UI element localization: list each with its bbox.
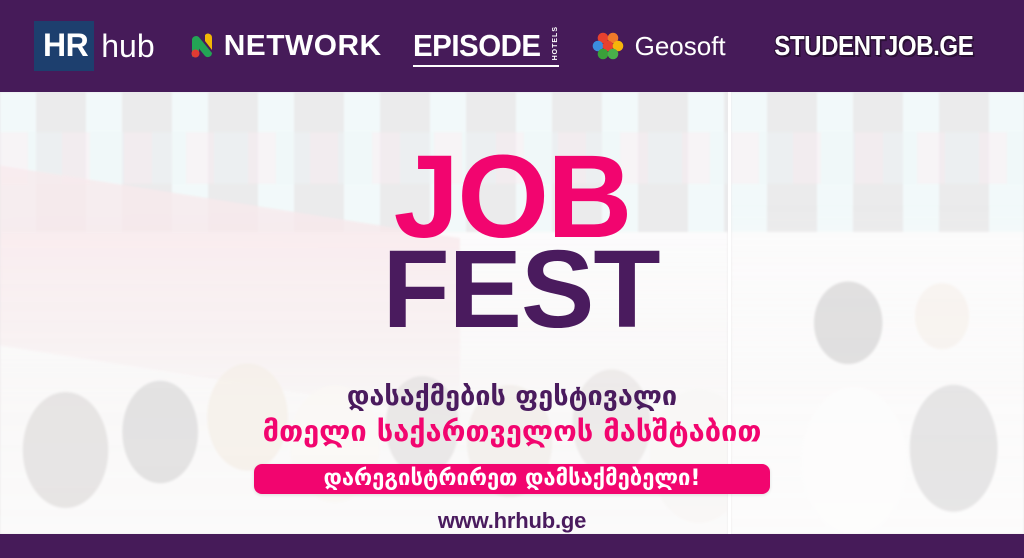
hero-content: JOB FEST დასაქმების ფესტივალი მთელი საქა… [0, 92, 1024, 534]
studentjob-wordmark: STUDENTJOB.GE [775, 32, 974, 60]
bottom-accent-bar [0, 534, 1024, 558]
logo-geosoft[interactable]: Geosoft [592, 30, 726, 62]
job-fest-banner: HR hub NETWORK EPISODE HOTELS [0, 0, 1024, 558]
hr-hub-wordmark: hub [101, 30, 154, 62]
network-wordmark: NETWORK [224, 32, 382, 61]
logo-hr-hub[interactable]: HR hub [34, 21, 155, 71]
episode-underline [413, 65, 559, 67]
geosoft-dots-icon [592, 30, 624, 62]
website-url[interactable]: www.hrhub.ge [438, 508, 586, 534]
hero-subtitle-line-2: მთელი საქართველოს მასშტაბით [263, 416, 762, 448]
hero-subtitle-line-1: დასაქმების ფესტივალი [347, 382, 677, 412]
geosoft-wordmark: Geosoft [635, 33, 726, 59]
episode-wordmark: EPISODE [413, 30, 541, 61]
hero-section: JOB FEST დასაქმების ფესტივალი მთელი საქა… [0, 92, 1024, 534]
network-n-icon [187, 31, 217, 61]
episode-row: EPISODE HOTELS [413, 25, 559, 60]
logo-episode-hotels[interactable]: EPISODE HOTELS [413, 25, 559, 66]
sponsor-logo-bar: HR hub NETWORK EPISODE HOTELS [0, 0, 1024, 92]
episode-hotels-label: HOTELS [552, 25, 559, 60]
hr-hub-mark: HR [34, 21, 94, 71]
hero-title-fest: FEST [364, 239, 659, 340]
logo-network[interactable]: NETWORK [187, 31, 379, 61]
hr-hub-mark-text: HR [43, 29, 88, 61]
register-employer-button[interactable]: დარეგისტრირეთ დამსაქმებელი! [254, 464, 770, 494]
logo-studentjob-ge[interactable]: STUDENTJOB.GE [758, 32, 990, 60]
